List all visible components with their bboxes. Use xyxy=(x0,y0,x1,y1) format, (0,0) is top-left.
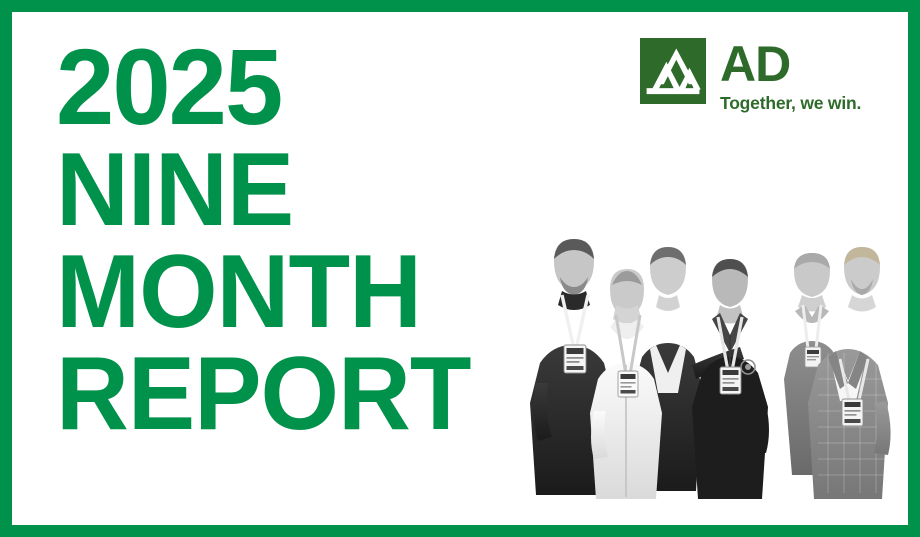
report-cover: 2025 NINE MONTH REPORT AD Together, we w… xyxy=(0,0,920,537)
ad-mountain-logo-mark xyxy=(640,38,706,104)
ad-tagline: Together, we win. xyxy=(720,95,861,113)
group-photo-illustration xyxy=(522,233,908,525)
page-title: 2025 NINE MONTH REPORT xyxy=(56,34,576,446)
title-line-year: 2025 xyxy=(56,34,560,140)
person-center-front xyxy=(692,259,769,499)
ad-wordmark: AD xyxy=(720,40,861,88)
cover-canvas: 2025 NINE MONTH REPORT AD Together, we w… xyxy=(12,12,908,525)
title-line-report: REPORT xyxy=(56,344,560,446)
title-line-nine: NINE xyxy=(56,140,560,242)
title-line-month: MONTH xyxy=(56,242,560,344)
ad-logo-lockup: AD Together, we win. xyxy=(640,38,861,113)
group-photo xyxy=(522,233,908,525)
person-white-jacket xyxy=(590,269,662,499)
ad-logo-text: AD Together, we win. xyxy=(720,38,861,113)
